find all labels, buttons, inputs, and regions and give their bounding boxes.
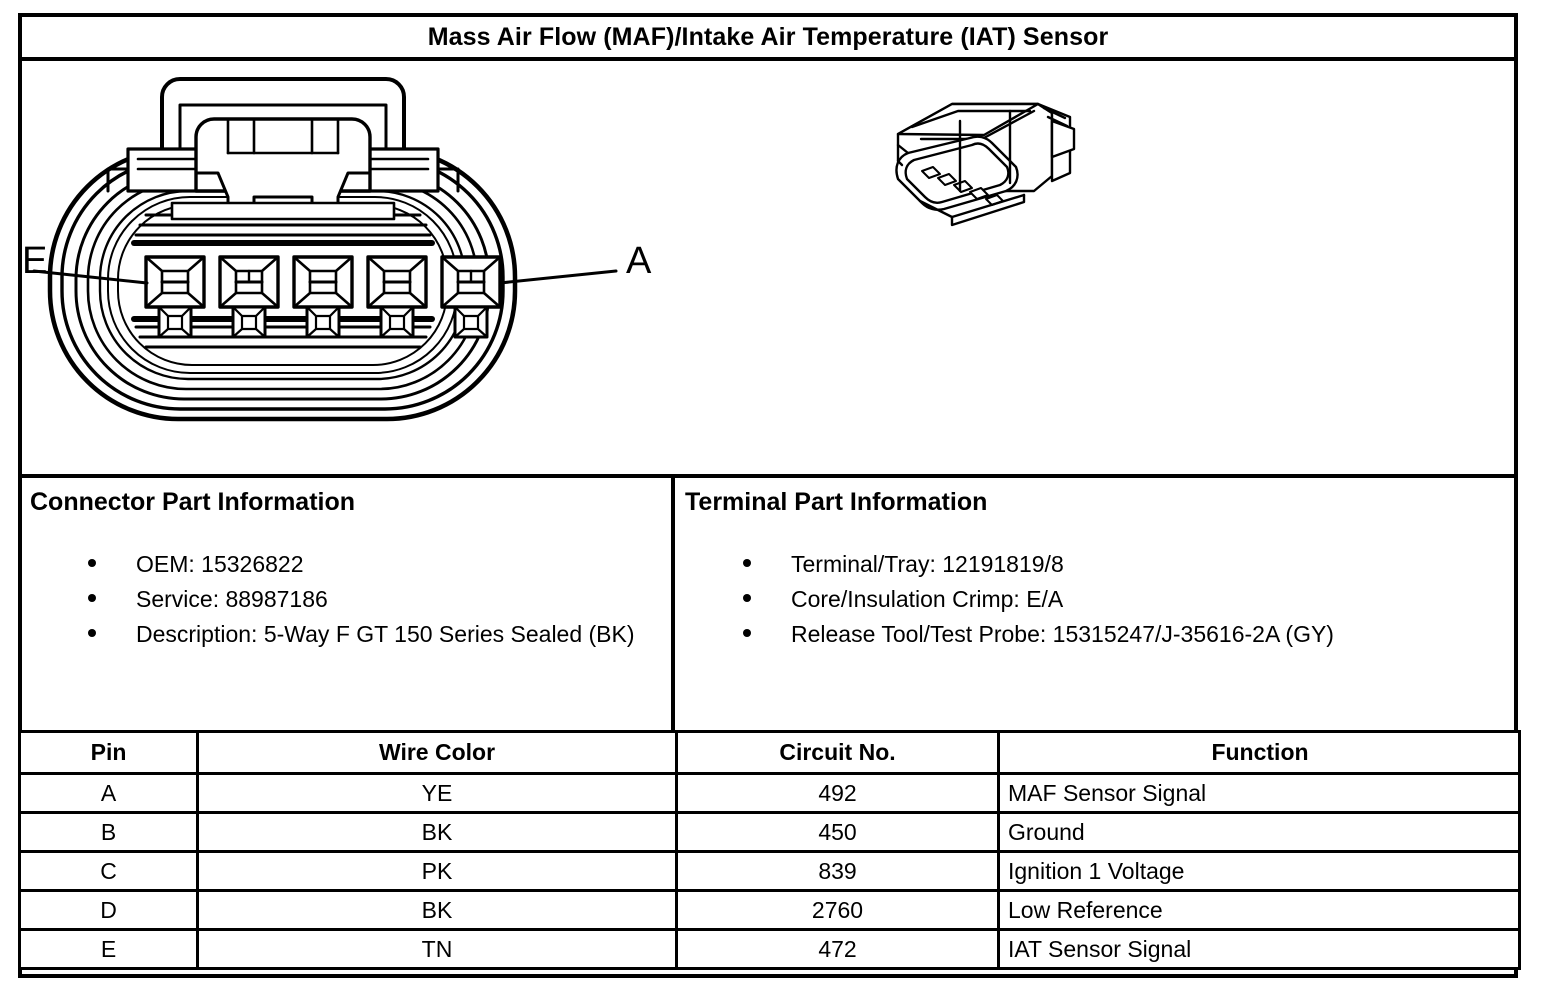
table-row: D BK 2760 Low Reference [20,891,1520,930]
bullet-icon [743,559,751,567]
column-header-function: Function [999,732,1520,774]
cell-function: Ignition 1 Voltage [999,852,1520,891]
cell-pin: D [20,891,198,930]
list-item: Core/Insulation Crimp: E/A [685,582,1514,616]
connector-illustration: E A [22,61,1514,478]
column-header-circuit-no: Circuit No. [677,732,999,774]
cell-circuit-no: 472 [677,930,999,969]
cell-circuit-no: 839 [677,852,999,891]
table-row: B BK 450 Ground [20,813,1520,852]
list-item: Service: 88987186 [30,582,671,616]
cell-wire-color: BK [198,891,677,930]
cell-circuit-no: 2760 [677,891,999,930]
list-item-label: Terminal/Tray: 12191819/8 [791,551,1064,577]
list-item-label: Release Tool/Test Probe: 15315247/J-3561… [791,621,1334,647]
connector-face-view [34,79,616,419]
part-information-band: Connector Part Information OEM: 15326822… [18,474,1518,734]
bullet-icon [88,559,96,567]
column-header-pin: Pin [20,732,198,774]
cell-function: Low Reference [999,891,1520,930]
list-item-label: Description: 5-Way F GT 150 Series Seale… [136,621,635,647]
connector-part-information-panel: Connector Part Information OEM: 15326822… [22,478,675,730]
leader-line-a [500,271,616,283]
cell-function: MAF Sensor Signal [999,774,1520,813]
connector-isometric-view [896,104,1074,225]
list-item: Release Tool/Test Probe: 15315247/J-3561… [685,617,1514,651]
connector-end-view-page: Mass Air Flow (MAF)/Intake Air Temperatu… [0,0,1568,998]
cell-wire-color: BK [198,813,677,852]
terminal-part-information-list: Terminal/Tray: 12191819/8 Core/Insulatio… [685,547,1514,651]
cell-pin: A [20,774,198,813]
bullet-icon [88,629,96,637]
bullet-icon [743,594,751,602]
list-item: Terminal/Tray: 12191819/8 [685,547,1514,581]
pin-label-e: E [22,240,47,282]
terminal-part-information-heading: Terminal Part Information [685,488,1514,517]
cell-pin: C [20,852,198,891]
table-row: A YE 492 MAF Sensor Signal [20,774,1520,813]
connector-part-information-heading: Connector Part Information [30,488,671,517]
page-title: Mass Air Flow (MAF)/Intake Air Temperatu… [428,25,1109,50]
cell-wire-color: TN [198,930,677,969]
cell-pin: B [20,813,198,852]
list-item-label: OEM: 15326822 [136,551,304,577]
cell-circuit-no: 492 [677,774,999,813]
cell-circuit-no: 450 [677,813,999,852]
cell-wire-color: PK [198,852,677,891]
cell-function: IAT Sensor Signal [999,930,1520,969]
title-bar: Mass Air Flow (MAF)/Intake Air Temperatu… [18,13,1518,61]
table-header-row: Pin Wire Color Circuit No. Function [20,732,1520,774]
pin-table: Pin Wire Color Circuit No. Function A YE… [18,730,1521,970]
pin-table-container: Pin Wire Color Circuit No. Function A YE… [18,730,1518,970]
bullet-icon [743,629,751,637]
cell-function: Ground [999,813,1520,852]
table-row: E TN 472 IAT Sensor Signal [20,930,1520,969]
pin-label-a: A [626,240,652,282]
terminal-part-information-panel: Terminal Part Information Terminal/Tray:… [675,478,1514,730]
list-item-label: Service: 88987186 [136,586,328,612]
list-item: Description: 5-Way F GT 150 Series Seale… [30,617,671,651]
connector-part-information-list: OEM: 15326822 Service: 88987186 Descript… [30,547,671,651]
bullet-icon [88,594,96,602]
cell-pin: E [20,930,198,969]
cell-wire-color: YE [198,774,677,813]
list-item: OEM: 15326822 [30,547,671,581]
table-row: C PK 839 Ignition 1 Voltage [20,852,1520,891]
connector-drawing-svg: E A [22,61,1514,478]
column-header-wire-color: Wire Color [198,732,677,774]
list-item-label: Core/Insulation Crimp: E/A [791,586,1063,612]
